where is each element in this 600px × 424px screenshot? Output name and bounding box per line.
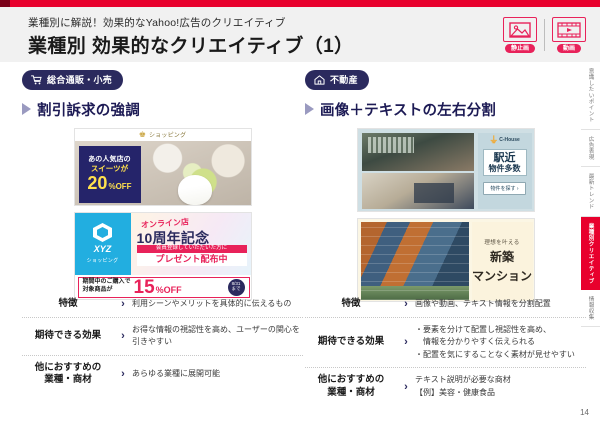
info-value: テキスト説明が必要な商材 【例】美容・健康食品: [415, 374, 586, 399]
creative-ad-station-logo-text: C-House: [499, 137, 520, 143]
triangle-bullet-icon: [305, 103, 314, 115]
chevron-right-icon: ›: [397, 381, 415, 393]
creative-ad-sweets-discount-suffix: %OFF: [108, 182, 131, 191]
creative-ad-mansion-photo: [361, 222, 469, 300]
creative-ad-xyz: XYZ ショッピング オンライン店 10周年記念 会員登録していただいた方に プ…: [74, 212, 252, 300]
top-accent-bar: [0, 0, 600, 7]
table-row: 期待できる効果 › お得な情報の視認性を高め、ユーザーの関心を引きやすい: [22, 317, 303, 355]
section-heading-retail: 割引訴求の強調: [37, 99, 140, 120]
table-row: 他におすすめの 業種・商材 › テキスト説明が必要な商材 【例】美容・健康食品: [305, 367, 586, 406]
shopping-cart-icon: [31, 75, 42, 85]
info-label: 期待できる効果: [22, 330, 114, 343]
section-title-retail: 割引訴求の強調: [22, 99, 303, 120]
table-row: 特徴 › 利用シーンやメリットを具体的に伝えるもの: [22, 292, 303, 317]
creative-ad-xyz-main: XYZ ショッピング オンライン店 10周年記念 会員登録していただいた方に プ…: [75, 213, 252, 275]
info-value: 利用シーンやメリットを具体的に伝えるもの: [132, 298, 303, 310]
creative-ad-sweets: ♚ ショッピング あの人気店の スイーツが 20 %OFF: [74, 128, 252, 206]
chevron-right-icon: ›: [114, 330, 132, 342]
column-retail: 総合通販・小売 割引訴求の強調 ♚ ショッピング あの人気店の スイーツが 20: [22, 70, 303, 300]
top-accent-bar-dark-edge: [0, 0, 10, 7]
creative-examples-retail: ♚ ショッピング あの人気店の スイーツが 20 %OFF: [22, 128, 303, 300]
video-label: 動画: [557, 44, 581, 53]
header-icon-divider: [544, 19, 545, 51]
page-number: 14: [580, 408, 589, 417]
chevron-right-icon: ›: [397, 336, 415, 348]
still-image-label: 静止画: [505, 44, 535, 53]
table-row: 期待できる効果 › ・要素を分けて配置し視認性を高め、 情報を分かりやすく伝えら…: [305, 317, 586, 367]
creative-ad-station-title-1: 駅近: [489, 152, 521, 164]
category-badge-retail: 総合通販・小売: [22, 70, 123, 90]
info-value: お得な情報の視認性を高め、ユーザーの関心を引きやすい: [132, 324, 303, 349]
table-row: 特徴 › 画像や動画、テキスト情報を分割配置: [305, 292, 586, 317]
sidebar-tab-industry-creative[interactable]: 業種別クリエイティブ: [581, 217, 600, 290]
creative-ad-xyz-subbar-big: プレゼント配布中: [137, 253, 247, 267]
creative-ad-mansion: 理想を叶える 新築 マンション: [357, 218, 535, 302]
sidebar-tab-points[interactable]: 意識したいポイント: [581, 62, 600, 130]
video-icon-group: 動画: [552, 17, 586, 53]
creative-ad-sweets-brand: ショッピング: [149, 130, 186, 139]
column-realestate: 不動産 画像＋テキストの左右分割 ⏚ C-House 駅近 物件多数: [305, 70, 586, 302]
info-table-realestate: 特徴 › 画像や動画、テキスト情報を分割配置 期待できる効果 › ・要素を分けて…: [305, 292, 586, 406]
house-logo-icon: ⏚: [489, 136, 498, 145]
info-value: 画像や動画、テキスト情報を分割配置: [415, 298, 586, 310]
info-value: ・要素を分けて配置し視認性を高め、 情報を分かりやすく伝えられる ・配置を気にす…: [415, 324, 586, 361]
creative-ad-station-cta-button[interactable]: 物件を探す ›: [483, 182, 525, 195]
info-label: 特徴: [305, 298, 397, 311]
creative-ad-sweets-badge: あの人気店の スイーツが 20 %OFF: [79, 146, 141, 203]
creative-ad-xyz-brand: XYZ: [94, 245, 112, 254]
still-image-icon: [503, 17, 537, 42]
creative-ad-sweets-line2: スイーツが: [91, 164, 128, 173]
still-image-icon-group: 静止画: [503, 17, 537, 53]
info-table-retail: 特徴 › 利用シーンやメリットを具体的に伝えるもの 期待できる効果 › お得な情…: [22, 292, 303, 393]
creative-ad-xyz-bottom-line1: 期間中のご購入で: [83, 279, 131, 287]
creative-ad-sweets-discount-number: 20: [87, 174, 107, 192]
sidebar-tab-expression[interactable]: 広告表現: [581, 130, 600, 167]
creative-ad-mansion-caption: 理想を叶える: [484, 238, 519, 246]
video-icon: [552, 17, 586, 42]
creative-ad-station-textpane: ⏚ C-House 駅近 物件多数 物件を探す ›: [478, 133, 532, 209]
chevron-right-icon: ›: [114, 368, 132, 380]
creative-ad-station-photo-bottom: [362, 173, 474, 209]
creative-ad-mansion-title-2: マンション: [472, 269, 532, 284]
info-label: 他におすすめの 業種・商材: [22, 362, 114, 388]
creative-ad-station-logo: ⏚ C-House: [489, 136, 520, 145]
sidebar-tab-trends[interactable]: 最新トレンド: [581, 167, 600, 217]
slide: 業種別に解説！効果的なYahoo!広告のクリエイティブ 業種別 効果的なクリエイ…: [0, 0, 600, 424]
info-label: 他におすすめの 業種・商材: [305, 374, 397, 400]
creative-ad-station-title-box: 駅近 物件多数: [483, 149, 527, 177]
slide-header: 業種別に解説！効果的なYahoo!広告のクリエイティブ 業種別 効果的なクリエイ…: [0, 7, 600, 62]
creative-ad-sweets-brandbar: ♚ ショッピング: [75, 129, 251, 141]
crown-icon: ♚: [139, 131, 146, 139]
category-badge-realestate: 不動産: [305, 70, 369, 90]
sidebar-tab-info[interactable]: 情報収集: [581, 290, 600, 327]
creative-ad-station-title-2: 物件多数: [489, 164, 521, 174]
category-label-retail: 総合通販・小売: [47, 73, 112, 86]
info-value: あらゆる業種に展開可能: [132, 368, 303, 380]
sidebar-tabs: 意識したいポイント 広告表現 最新トレンド 業種別クリエイティブ 情報収集: [581, 62, 600, 402]
creative-ad-xyz-brand-sub: ショッピング: [87, 257, 119, 264]
creative-examples-realestate: ⏚ C-House 駅近 物件多数 物件を探す › 理想を叶える 新築 マンショ…: [305, 128, 586, 302]
hexagon-logo-icon: [93, 223, 112, 242]
category-label-realestate: 不動産: [330, 73, 358, 86]
header-kicker: 業種別に解説！効果的なYahoo!広告のクリエイティブ: [28, 15, 286, 30]
info-label: 期待できる効果: [305, 336, 397, 349]
creative-ad-mansion-title-1: 新築: [490, 250, 514, 265]
creative-ad-mansion-textpane: 理想を叶える 新築 マンション: [472, 222, 533, 300]
table-row: 他におすすめの 業種・商材 › あらゆる業種に展開可能: [22, 355, 303, 394]
creative-ad-xyz-brandblock: XYZ ショッピング: [75, 213, 131, 275]
triangle-bullet-icon: [22, 103, 31, 115]
creative-ad-station: ⏚ C-House 駅近 物件多数 物件を探す ›: [357, 128, 535, 212]
section-title-realestate: 画像＋テキストの左右分割: [305, 99, 586, 120]
creative-ad-station-photo-top: [362, 133, 474, 171]
info-label: 特徴: [22, 298, 114, 311]
page-title: 業種別 効果的なクリエイティブ（1）: [28, 31, 354, 58]
house-icon: [314, 75, 325, 85]
section-heading-realestate: 画像＋テキストの左右分割: [320, 99, 496, 120]
chevron-right-icon: ›: [114, 298, 132, 310]
chevron-right-icon: ›: [397, 298, 415, 310]
header-icon-group: 静止画: [503, 17, 586, 53]
creative-ad-sweets-discount: 20 %OFF: [87, 174, 131, 192]
